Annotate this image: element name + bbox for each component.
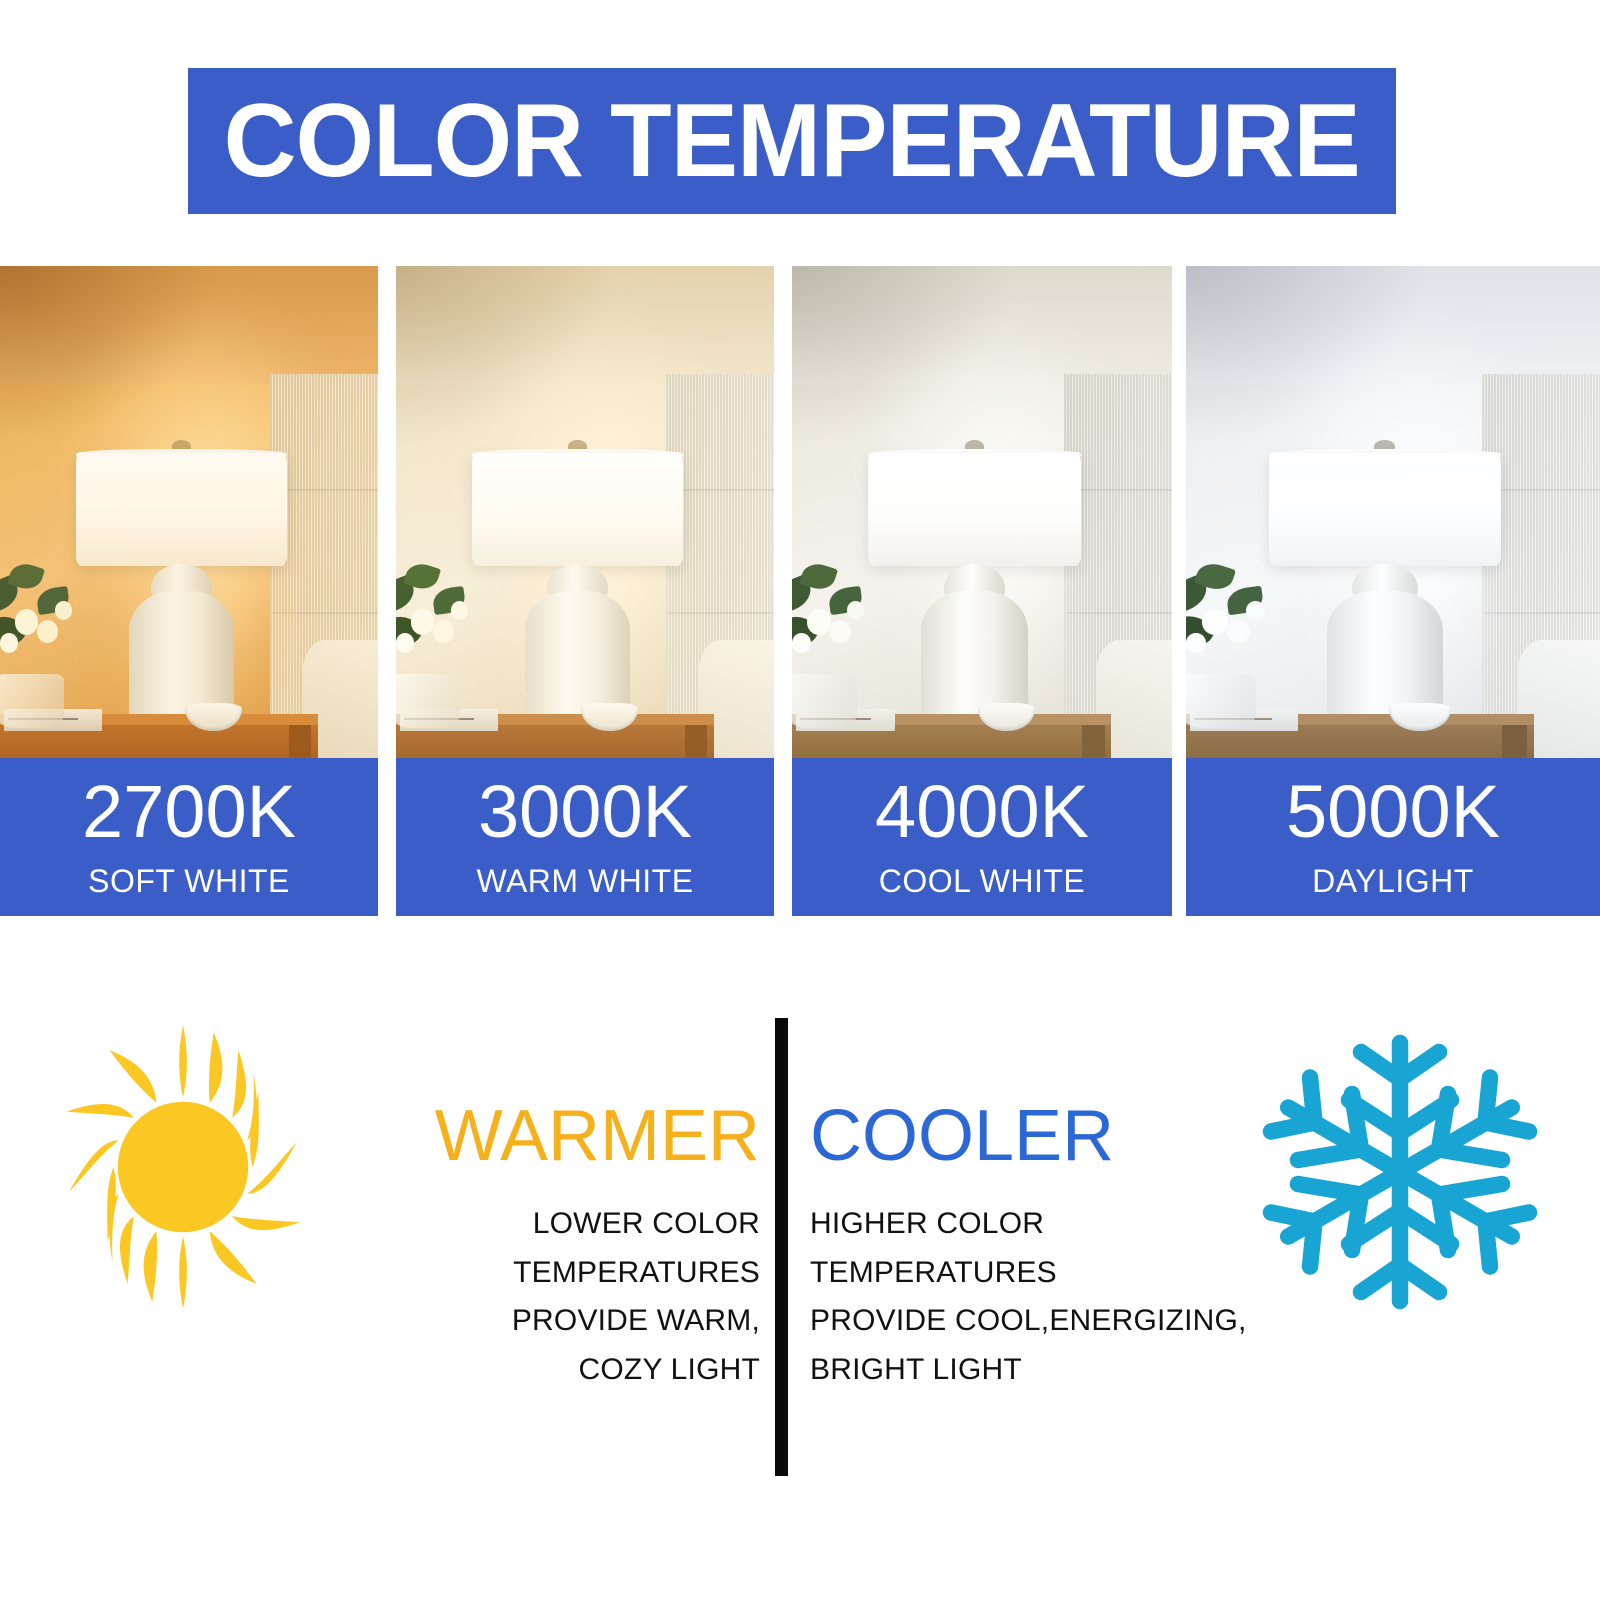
color-temperature-panels: 2700K SOFT WHITE — [0, 266, 1600, 916]
room-photo-2700k — [0, 266, 378, 758]
kelvin-label: DAYLIGHT — [1312, 865, 1474, 897]
title-banner: COLOR TEMPERATURE — [188, 68, 1396, 214]
kelvin-label: SOFT WHITE — [88, 865, 290, 897]
kelvin-label: WARM WHITE — [476, 865, 693, 897]
sun-icon — [38, 1022, 328, 1312]
panel-caption: 2700K SOFT WHITE — [0, 758, 378, 916]
room-photo-3000k — [396, 266, 774, 758]
kelvin-value: 4000K — [875, 775, 1089, 849]
kelvin-value: 2700K — [82, 775, 296, 849]
kelvin-label: COOL WHITE — [879, 865, 1085, 897]
warmer-line-2: PROVIDE WARM, — [330, 1297, 760, 1346]
warmer-line-1: LOWER COLOR TEMPERATURES — [330, 1200, 760, 1297]
cooler-line-1: HIGHER COLOR TEMPERATURES — [810, 1200, 1250, 1297]
page-title: COLOR TEMPERATURE — [224, 89, 1360, 193]
cooler-line-2: PROVIDE COOL,ENERGIZING, — [810, 1297, 1250, 1346]
kelvin-value: 5000K — [1286, 775, 1500, 849]
panel-caption: 5000K DAYLIGHT — [1186, 758, 1600, 916]
warmer-heading: WARMER — [330, 1100, 760, 1172]
warmer-column: WARMER LOWER COLOR TEMPERATURES PROVIDE … — [330, 1100, 760, 1394]
panel-caption: 4000K COOL WHITE — [792, 758, 1172, 916]
temperature-panel[interactable]: 2700K SOFT WHITE — [0, 266, 378, 916]
section-divider — [775, 1018, 788, 1476]
snowflake-icon — [1250, 1022, 1550, 1322]
cooler-heading: COOLER — [810, 1100, 1250, 1172]
warm-cool-comparison: WARMER LOWER COLOR TEMPERATURES PROVIDE … — [0, 960, 1600, 1580]
cooler-line-3: BRIGHT LIGHT — [810, 1346, 1250, 1395]
temperature-panel[interactable]: 5000K DAYLIGHT — [1186, 266, 1600, 916]
temperature-panel[interactable]: 3000K WARM WHITE — [396, 266, 774, 916]
room-photo-5000k — [1186, 266, 1600, 758]
warmer-line-3: COZY LIGHT — [330, 1346, 760, 1395]
cooler-column: COOLER HIGHER COLOR TEMPERATURES PROVIDE… — [810, 1100, 1250, 1394]
kelvin-value: 3000K — [478, 775, 692, 849]
room-photo-4000k — [792, 266, 1172, 758]
panel-caption: 3000K WARM WHITE — [396, 758, 774, 916]
temperature-panel[interactable]: 4000K COOL WHITE — [792, 266, 1172, 916]
